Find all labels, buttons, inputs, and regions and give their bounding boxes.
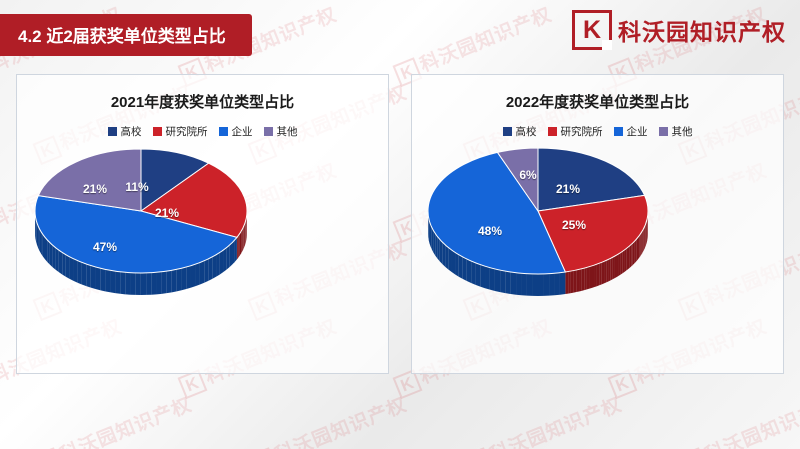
pie-slice-side (130, 273, 135, 295)
pie-slice-side (639, 234, 640, 258)
pie-slice-side (448, 247, 451, 272)
pie-slice-side (136, 273, 141, 295)
pie-slice-side (467, 259, 471, 283)
pie-slice-side (241, 230, 242, 253)
pie-slice-side (521, 273, 526, 295)
brand-logo: K 科沃园知识产权 (572, 10, 786, 50)
pie-slice-side (637, 237, 638, 260)
pie-slice-side (480, 265, 485, 289)
legend-swatch-gaoxiao (503, 127, 512, 136)
pie-slice-side (216, 253, 220, 277)
pie-slice-side (440, 239, 443, 264)
legend-item[interactable]: 研究院所 (153, 124, 208, 139)
pie-slice-label: 21% (556, 182, 580, 196)
pie-slice-side (638, 236, 639, 260)
pie-slice-side (70, 257, 74, 281)
pie-slice-side (471, 261, 475, 285)
pie-slice-side (476, 263, 481, 287)
pie-slice-side (613, 256, 615, 279)
pie-slice-side (571, 271, 574, 294)
pie-slice-side (120, 272, 125, 295)
legend-label: 高校 (516, 124, 537, 139)
pie-slice-side (584, 267, 587, 290)
pie-slice-side (105, 269, 110, 292)
pie-slice-side (645, 223, 646, 247)
pie-slice-side (500, 270, 505, 293)
chart-panel-2021: 2021年度获奖单位类型占比 高校 研究院所 企业 其他 11%21%47%21… (16, 74, 389, 374)
pie-slice-side (110, 270, 115, 293)
watermark-text: K科沃园知识产权 (461, 390, 625, 449)
legend-item[interactable]: 企业 (219, 124, 253, 139)
pie-slice-side (594, 264, 596, 287)
legend-label: 企业 (627, 124, 648, 139)
legend-swatch-yanjiuyuansuo (548, 127, 557, 136)
legend-item[interactable]: 其他 (659, 124, 693, 139)
pie-slice-side (238, 235, 239, 258)
pie-slice-side (196, 263, 200, 287)
charts-container: 2021年度获奖单位类型占比 高校 研究院所 企业 其他 11%21%47%21… (16, 74, 784, 374)
pie-slice-side (597, 263, 599, 286)
pie-slice-side (611, 257, 613, 280)
pie-slice-side (243, 226, 244, 249)
pie-slice-side (177, 268, 182, 291)
chart-title-2022: 2022年度获奖单位类型占比 (412, 91, 783, 112)
pie-slice-side (82, 262, 86, 286)
legend-label: 企业 (232, 124, 253, 139)
pie-slice-side (634, 240, 635, 263)
pie-slice-side (631, 243, 632, 266)
logo-text: 科沃园知识产权 (618, 13, 786, 47)
legend-label: 其他 (672, 124, 693, 139)
pie-slice-side (589, 266, 592, 289)
pie-slice-side (621, 251, 623, 274)
pie-slice-label: 21% (83, 182, 107, 196)
legend-swatch-gaoxiao (108, 127, 117, 136)
legend-item[interactable]: 企业 (614, 124, 648, 139)
pie-slice-side (39, 229, 41, 254)
pie-svg (35, 149, 247, 295)
pie-slice-side (240, 232, 241, 255)
pie-slice-side (642, 230, 643, 254)
pie-slice-side (229, 243, 232, 268)
pie-slice-side (644, 226, 645, 250)
pie-slice-side (162, 271, 167, 294)
pie-slice-side (244, 225, 245, 248)
pie-slice-side (630, 244, 632, 267)
legend-swatch-qiye (614, 127, 623, 136)
pie-slice-side (459, 255, 463, 279)
pie-slice-side (91, 266, 96, 289)
pie-slice-side (432, 227, 434, 252)
pie-slice-side (606, 259, 608, 282)
pie-slice-side (609, 258, 611, 281)
pie-slice-side (635, 239, 636, 262)
pie-slice-side (604, 260, 606, 283)
pie-slice-side (141, 273, 146, 295)
pie-slice-side (633, 242, 634, 265)
pie-slice-side (212, 255, 216, 279)
chart-title-2021: 2021年度获奖单位类型占比 (17, 91, 388, 112)
pie-slice-side (623, 250, 625, 273)
pie-slice-side (204, 259, 208, 283)
pie-slice-side (47, 240, 50, 265)
pie-slice-side (527, 274, 533, 296)
pie-slice-side (646, 222, 647, 246)
chart-legend-2022: 高校 研究院所 企业 其他 (412, 124, 783, 139)
watermark-text: K科沃园知识产权 (31, 390, 195, 449)
pie-slice-side (50, 243, 53, 268)
pie-slice-side (565, 272, 568, 294)
page-title: 4.2 近2届获奖单位类型占比 (0, 14, 252, 56)
pie-slice-side (485, 266, 490, 289)
pie-slice-side (505, 271, 510, 294)
pie-slice-side (56, 248, 59, 272)
pie-slice-side (95, 267, 100, 290)
pie-slice-side (182, 267, 187, 290)
pie-slice-side (643, 228, 644, 252)
pie-slice-side (625, 249, 627, 272)
pie-slice-side (125, 272, 130, 294)
pie-slice-side (602, 261, 604, 284)
legend-swatch-qita (264, 127, 273, 136)
pie-slice-side (579, 269, 582, 292)
pie-slice-side (232, 240, 235, 265)
pie-svg (428, 148, 648, 296)
pie-slice-side (115, 271, 120, 294)
pie-slice-side (452, 250, 456, 274)
chart-legend-2021: 高校 研究院所 企业 其他 (17, 124, 388, 139)
pie-slice-side (100, 268, 105, 291)
pie-slice-side (574, 270, 577, 293)
pie-slice-side (241, 231, 242, 254)
legend-label: 研究院所 (166, 124, 208, 139)
pie-slice-label: 11% (125, 180, 148, 194)
pie-slice-side (549, 273, 554, 295)
pie-slice-side (435, 233, 437, 258)
pie-slice-side (41, 232, 43, 257)
pie-slice-label: 25% (562, 218, 586, 232)
pie-slice-side (220, 250, 223, 274)
pie-slice-side (237, 236, 238, 259)
pie-slice-side (59, 250, 62, 274)
pie-slice-side (641, 231, 642, 255)
pie-slice-side (617, 254, 619, 277)
pie-slice-side (239, 234, 240, 257)
pie-slice-side (582, 268, 585, 291)
pie-slice-side (53, 245, 56, 270)
pie-slice-side (235, 237, 237, 262)
pie-slice-side (191, 264, 196, 288)
pie-slice-side (640, 233, 641, 257)
pie-slice-side (619, 252, 621, 275)
pie-slice-side (167, 270, 172, 293)
pie-slice-side (645, 225, 646, 249)
pie-slice-side (74, 259, 78, 283)
pie-slice-side (532, 274, 538, 296)
legend-label: 研究院所 (561, 124, 603, 139)
legend-item[interactable]: 研究院所 (548, 124, 603, 139)
pie-slice-side (43, 234, 45, 259)
pie-slice-side (242, 228, 243, 251)
pie-chart-2021: 11%21%47%21% (17, 139, 388, 329)
pie-slice-side (568, 271, 571, 293)
chart-panel-2022: 2022年度获奖单位类型占比 高校 研究院所 企业 其他 21%25%48%6% (411, 74, 784, 374)
pie-slice-side (172, 269, 177, 292)
pie-slice-side (208, 257, 212, 281)
pie-slice-side (226, 245, 229, 269)
pie-slice-side (442, 242, 445, 267)
pie-slice-side (587, 267, 590, 290)
pie-slice-side (38, 226, 39, 251)
pie-slice-side (223, 248, 226, 272)
pie-slice-side (433, 230, 435, 255)
pie-slice-side (66, 255, 70, 279)
pie-slice-side (78, 261, 82, 285)
pie-slice-side (592, 265, 594, 288)
legend-label: 高校 (121, 124, 142, 139)
pie-slice-side (243, 227, 244, 250)
pie-slice-side (555, 273, 560, 296)
pie-slice-side (628, 246, 630, 269)
legend-swatch-qiye (219, 127, 228, 136)
pie-slice-side (576, 269, 579, 292)
watermark-text: K科沃园知识产权 (246, 390, 410, 449)
watermark-text: K科沃园知识产权 (676, 390, 800, 449)
legend-swatch-qita (659, 127, 668, 136)
pie-slice-side (615, 255, 617, 278)
pie-slice-side (511, 272, 516, 295)
pie-slice-label: 47% (93, 240, 117, 254)
pie-slice-side (560, 272, 565, 295)
pie-slice-side (544, 274, 550, 296)
pie-slice-label: 21% (155, 206, 179, 220)
pie-slice-side (62, 252, 66, 276)
pie-slice-side (200, 261, 204, 285)
pie-slice-side (455, 252, 459, 276)
pie-slice-side (45, 237, 47, 262)
pie-slice-side (495, 269, 500, 292)
pie-slice-side (538, 274, 544, 296)
pie-slice-side (151, 272, 156, 294)
legend-item[interactable]: 高校 (108, 124, 142, 139)
pie-slice-side (186, 266, 191, 289)
pie-slice-side (599, 262, 601, 285)
pie-slice-side (445, 245, 448, 270)
pie-slice-side (156, 272, 161, 295)
legend-swatch-yanjiuyuansuo (153, 127, 162, 136)
legend-label: 其他 (277, 124, 298, 139)
pie-slice-side (437, 236, 439, 261)
pie-slice-side (146, 273, 151, 295)
pie-slice-label: 48% (478, 224, 502, 238)
pie-slice-side (490, 268, 495, 291)
legend-item[interactable]: 高校 (503, 124, 537, 139)
logo-mark-icon: K (572, 10, 612, 50)
pie-slice-side (463, 257, 467, 281)
pie-chart-2022: 21%25%48%6% (412, 139, 783, 329)
pie-slice-label: 6% (519, 168, 536, 182)
legend-item[interactable]: 其他 (264, 124, 298, 139)
pie-slice-side (86, 264, 91, 288)
pie-slice-side (626, 247, 628, 270)
pie-slice-side (516, 273, 521, 296)
